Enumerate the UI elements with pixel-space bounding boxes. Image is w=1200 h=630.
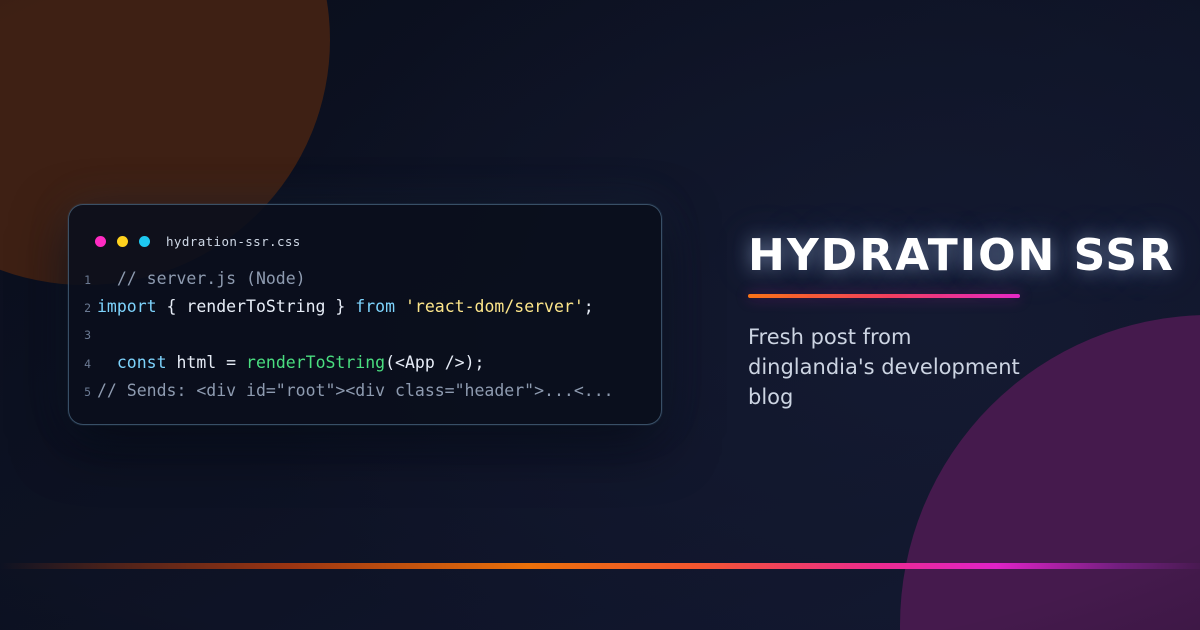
- code-line: 3: [69, 321, 661, 349]
- code-token: ;: [584, 297, 594, 316]
- code-token: // Sends: <div id="root"><div class="hea…: [97, 381, 614, 400]
- code-line: 1 // server.js (Node): [69, 265, 661, 293]
- line-number: 1: [69, 266, 91, 294]
- code-line-content: import { renderToString } from 'react-do…: [97, 293, 594, 321]
- code-line-content: // Sends: <div id="root"><div class="hea…: [97, 377, 614, 405]
- code-filename-label: hydration-ssr.css: [166, 234, 301, 249]
- code-line-content: // server.js (Node): [97, 265, 306, 293]
- code-line: 5 // Sends: <div id="root"><div class="h…: [69, 377, 661, 405]
- code-token: html =: [167, 353, 246, 372]
- code-token: (<App />);: [385, 353, 484, 372]
- post-info-column: HYDRATION SSR Fresh post from dinglandia…: [748, 228, 1160, 412]
- code-line: 4 const html = renderToString(<App />);: [69, 349, 661, 377]
- code-token: 'react-dom/server': [405, 297, 584, 316]
- code-window-titlebar: hydration-ssr.css: [69, 205, 661, 253]
- code-token: // server.js (Node): [97, 269, 306, 288]
- code-token: { renderToString }: [157, 297, 356, 316]
- line-number: 2: [69, 294, 91, 322]
- code-token: import: [97, 297, 157, 316]
- post-subtitle: Fresh post from dinglandia's development…: [748, 322, 1038, 412]
- code-line-content: const html = renderToString(<App />);: [97, 349, 484, 377]
- code-token: [395, 297, 405, 316]
- line-number: 5: [69, 378, 91, 406]
- line-number: 3: [69, 321, 91, 349]
- title-underline-accent: [748, 294, 1020, 298]
- line-number: 4: [69, 350, 91, 378]
- og-social-card: hydration-ssr.css 1 // server.js (Node) …: [0, 0, 1200, 630]
- code-token: from: [355, 297, 395, 316]
- code-line: 2 import { renderToString } from 'react-…: [69, 293, 661, 321]
- bottom-accent-bar: [0, 563, 1200, 569]
- code-token: renderToString: [246, 353, 385, 372]
- page-title: HYDRATION SSR: [748, 228, 1160, 284]
- window-minimize-dot-icon[interactable]: [117, 236, 128, 247]
- window-maximize-dot-icon[interactable]: [139, 236, 150, 247]
- code-token: const: [117, 353, 167, 372]
- code-editor-body: 1 // server.js (Node) 2 import { renderT…: [69, 265, 661, 405]
- code-token: [97, 353, 117, 372]
- window-close-dot-icon[interactable]: [95, 236, 106, 247]
- code-window: hydration-ssr.css 1 // server.js (Node) …: [68, 204, 662, 425]
